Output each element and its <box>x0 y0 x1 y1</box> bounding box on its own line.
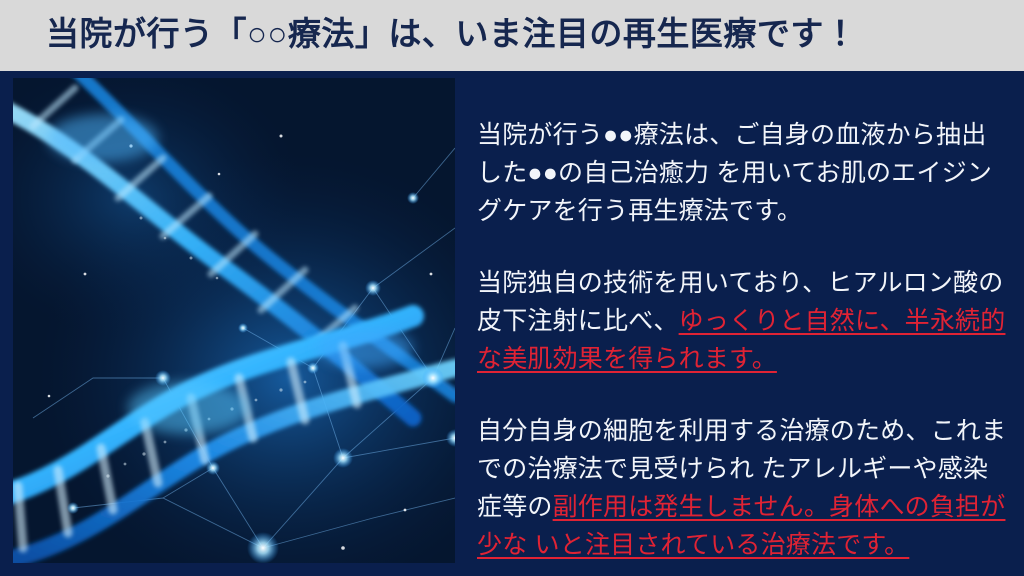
paragraph-1: 当院が行う●●療法は、ご自身の血液から抽出した●●の自己治癒力 を用いてお肌のエ… <box>477 116 1009 230</box>
header-band: 当院が行う「○○療法」は、いま注目の再生医療です！ <box>0 0 1024 71</box>
paragraph-1-text: 当院が行う●●療法は、ご自身の血液から抽出した●●の自己治癒力 を用いてお肌のエ… <box>477 121 992 225</box>
slide-canvas: 当院が行う「○○療法」は、いま注目の再生医療です！ <box>0 0 1024 576</box>
description-text-column: 当院が行う●●療法は、ご自身の血液から抽出した●●の自己治癒力 を用いてお肌のエ… <box>477 116 1009 564</box>
paragraph-3: 自分自身の細胞を利用する治療のため、これまでの治療法で見受けられ たアレルギーや… <box>477 412 1009 564</box>
paragraph-2: 当院独自の技術を用いており、ヒアルロン酸の皮下注射に比べ、ゆっくりと自然に、半永… <box>477 264 1009 378</box>
dna-helix-icon <box>13 78 455 563</box>
paragraph-3-highlight: 副作用は発生しません。身体への負担が少な いと注目されている治療法です。 <box>477 493 1005 559</box>
page-title: 当院が行う「○○療法」は、いま注目の再生医療です！ <box>46 14 982 54</box>
content-stage: 当院が行う●●療法は、ご自身の血液から抽出した●●の自己治癒力 を用いてお肌のエ… <box>0 71 1024 576</box>
